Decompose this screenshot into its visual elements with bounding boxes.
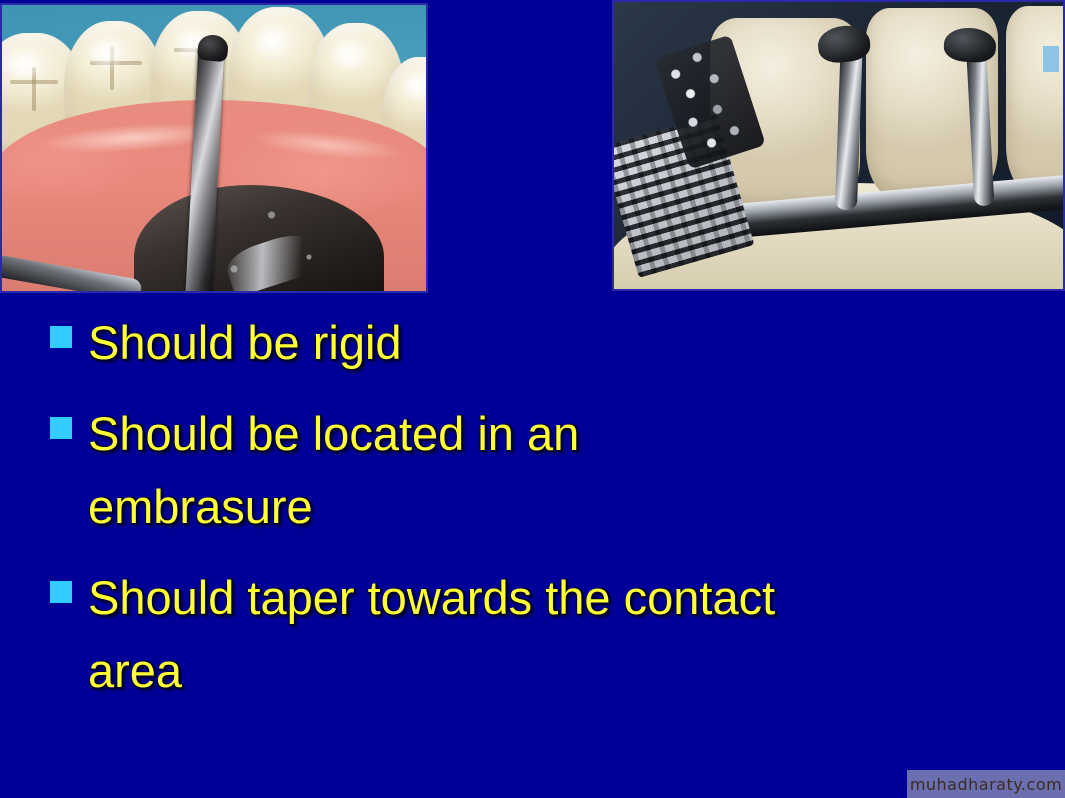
intraoral-photo-minor-connector: [0, 3, 428, 293]
bullet-text: Should be located in an embrasure: [88, 397, 579, 543]
square-bullet-icon: [50, 581, 72, 603]
watermark-strip: muhadharaty.com: [907, 770, 1065, 798]
slide-canvas: Should be rigid Should be located in an …: [0, 0, 1065, 798]
bullet-text: Should be rigid: [88, 306, 402, 379]
bullet-list: Should be rigid Should be located in an …: [0, 300, 1065, 707]
list-item: Should taper towards the contact area: [0, 561, 1065, 707]
cast-tooth: [1006, 6, 1065, 194]
bullet-text: Should taper towards the contact area: [88, 561, 775, 707]
cast-framework-photo: [612, 0, 1065, 291]
list-item: Should be rigid: [0, 306, 1065, 379]
images-row: [0, 0, 1065, 300]
watermark-text: muhadharaty.com: [910, 775, 1062, 794]
square-bullet-icon: [50, 326, 72, 348]
square-bullet-icon: [50, 417, 72, 439]
list-item: Should be located in an embrasure: [0, 397, 1065, 543]
photo-corner-artifact: [1043, 46, 1059, 72]
